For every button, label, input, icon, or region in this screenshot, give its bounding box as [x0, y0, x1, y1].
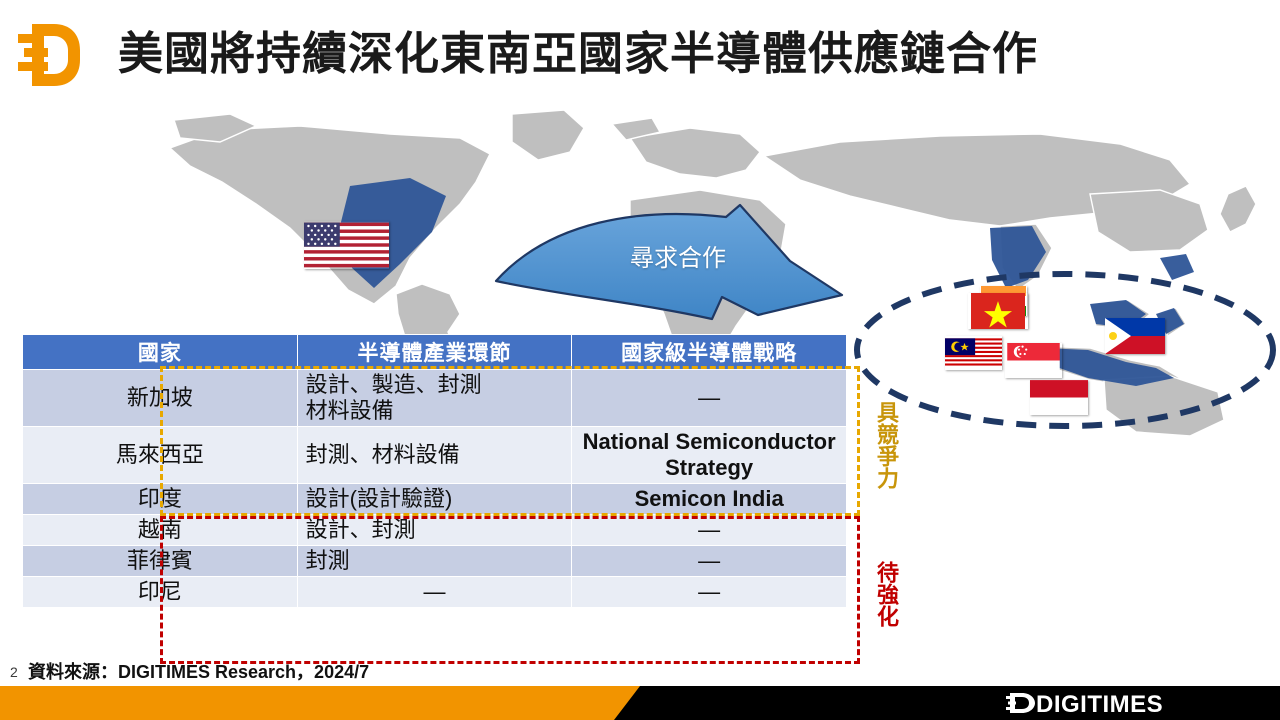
column-header-segment: 半導體產業環節 [297, 335, 572, 370]
brand-text: DIGITIMES [1036, 691, 1163, 716]
cell-segment: 設計(設計驗證) [297, 483, 572, 514]
column-header-strategy: 國家級半導體戰略 [572, 335, 847, 370]
table-row: 越南 設計、封測 — [23, 514, 847, 545]
table-header-row: 國家 半導體產業環節 國家級半導體戰略 [23, 335, 847, 370]
slide-header: 美國將持續深化東南亞國家半導體供應鏈合作 [0, 0, 1280, 108]
cell-country: 馬來西亞 [23, 426, 298, 483]
table-row: 印尼 — — [23, 576, 847, 607]
digitimes-d-logo-icon [14, 18, 88, 92]
cooperation-arrow-icon [490, 203, 860, 343]
cell-segment: 封測 [297, 545, 572, 576]
semiconductor-strategy-table: 國家 半導體產業環節 國家級半導體戰略 新加坡 設計、製造、封測 材料設備 — … [22, 334, 847, 608]
cell-segment: 設計、封測 [297, 514, 572, 545]
group-label-needs-improvement: 待強化 [868, 545, 898, 643]
cell-country: 新加坡 [23, 370, 298, 427]
cell-segment: — [297, 576, 572, 607]
cell-country: 印度 [23, 483, 298, 514]
flag-vietnam-icon [968, 293, 1028, 329]
group-label-competitive: 具競爭力 [868, 382, 898, 507]
table-row: 菲律賓 封測 — [23, 545, 847, 576]
cell-segment: 封測、材料設備 [297, 426, 572, 483]
flag-indonesia-icon [1030, 380, 1088, 415]
cell-strategy: — [572, 370, 847, 427]
table-row: 印度 設計(設計驗證) Semicon India [23, 483, 847, 514]
table-row: 新加坡 設計、製造、封測 材料設備 — [23, 370, 847, 427]
slide-number: 2 [10, 664, 18, 680]
flag-singapore-icon [1005, 343, 1062, 378]
digitimes-wordmark: DIGITIMES [1006, 690, 1266, 716]
page-title: 美國將持續深化東南亞國家半導體供應鏈合作 [118, 20, 1038, 88]
cell-strategy: Semicon India [572, 483, 847, 514]
source-note: 資料來源：DIGITIMES Research，2024/7 [28, 658, 369, 684]
cell-country: 越南 [23, 514, 298, 545]
cell-strategy: — [572, 545, 847, 576]
cell-strategy: — [572, 576, 847, 607]
flag-united-states-icon [304, 221, 389, 269]
cell-country: 菲律賓 [23, 545, 298, 576]
column-header-country: 國家 [23, 335, 298, 370]
flag-philippines-icon [1105, 318, 1165, 354]
cell-strategy: National Semiconductor Strategy [572, 426, 847, 483]
cell-country: 印尼 [23, 576, 298, 607]
cell-strategy: — [572, 514, 847, 545]
table-row: 馬來西亞 封測、材料設備 National Semiconductor Stra… [23, 426, 847, 483]
cell-segment: 設計、製造、封測 材料設備 [297, 370, 572, 427]
flag-malaysia-icon [945, 336, 1002, 370]
